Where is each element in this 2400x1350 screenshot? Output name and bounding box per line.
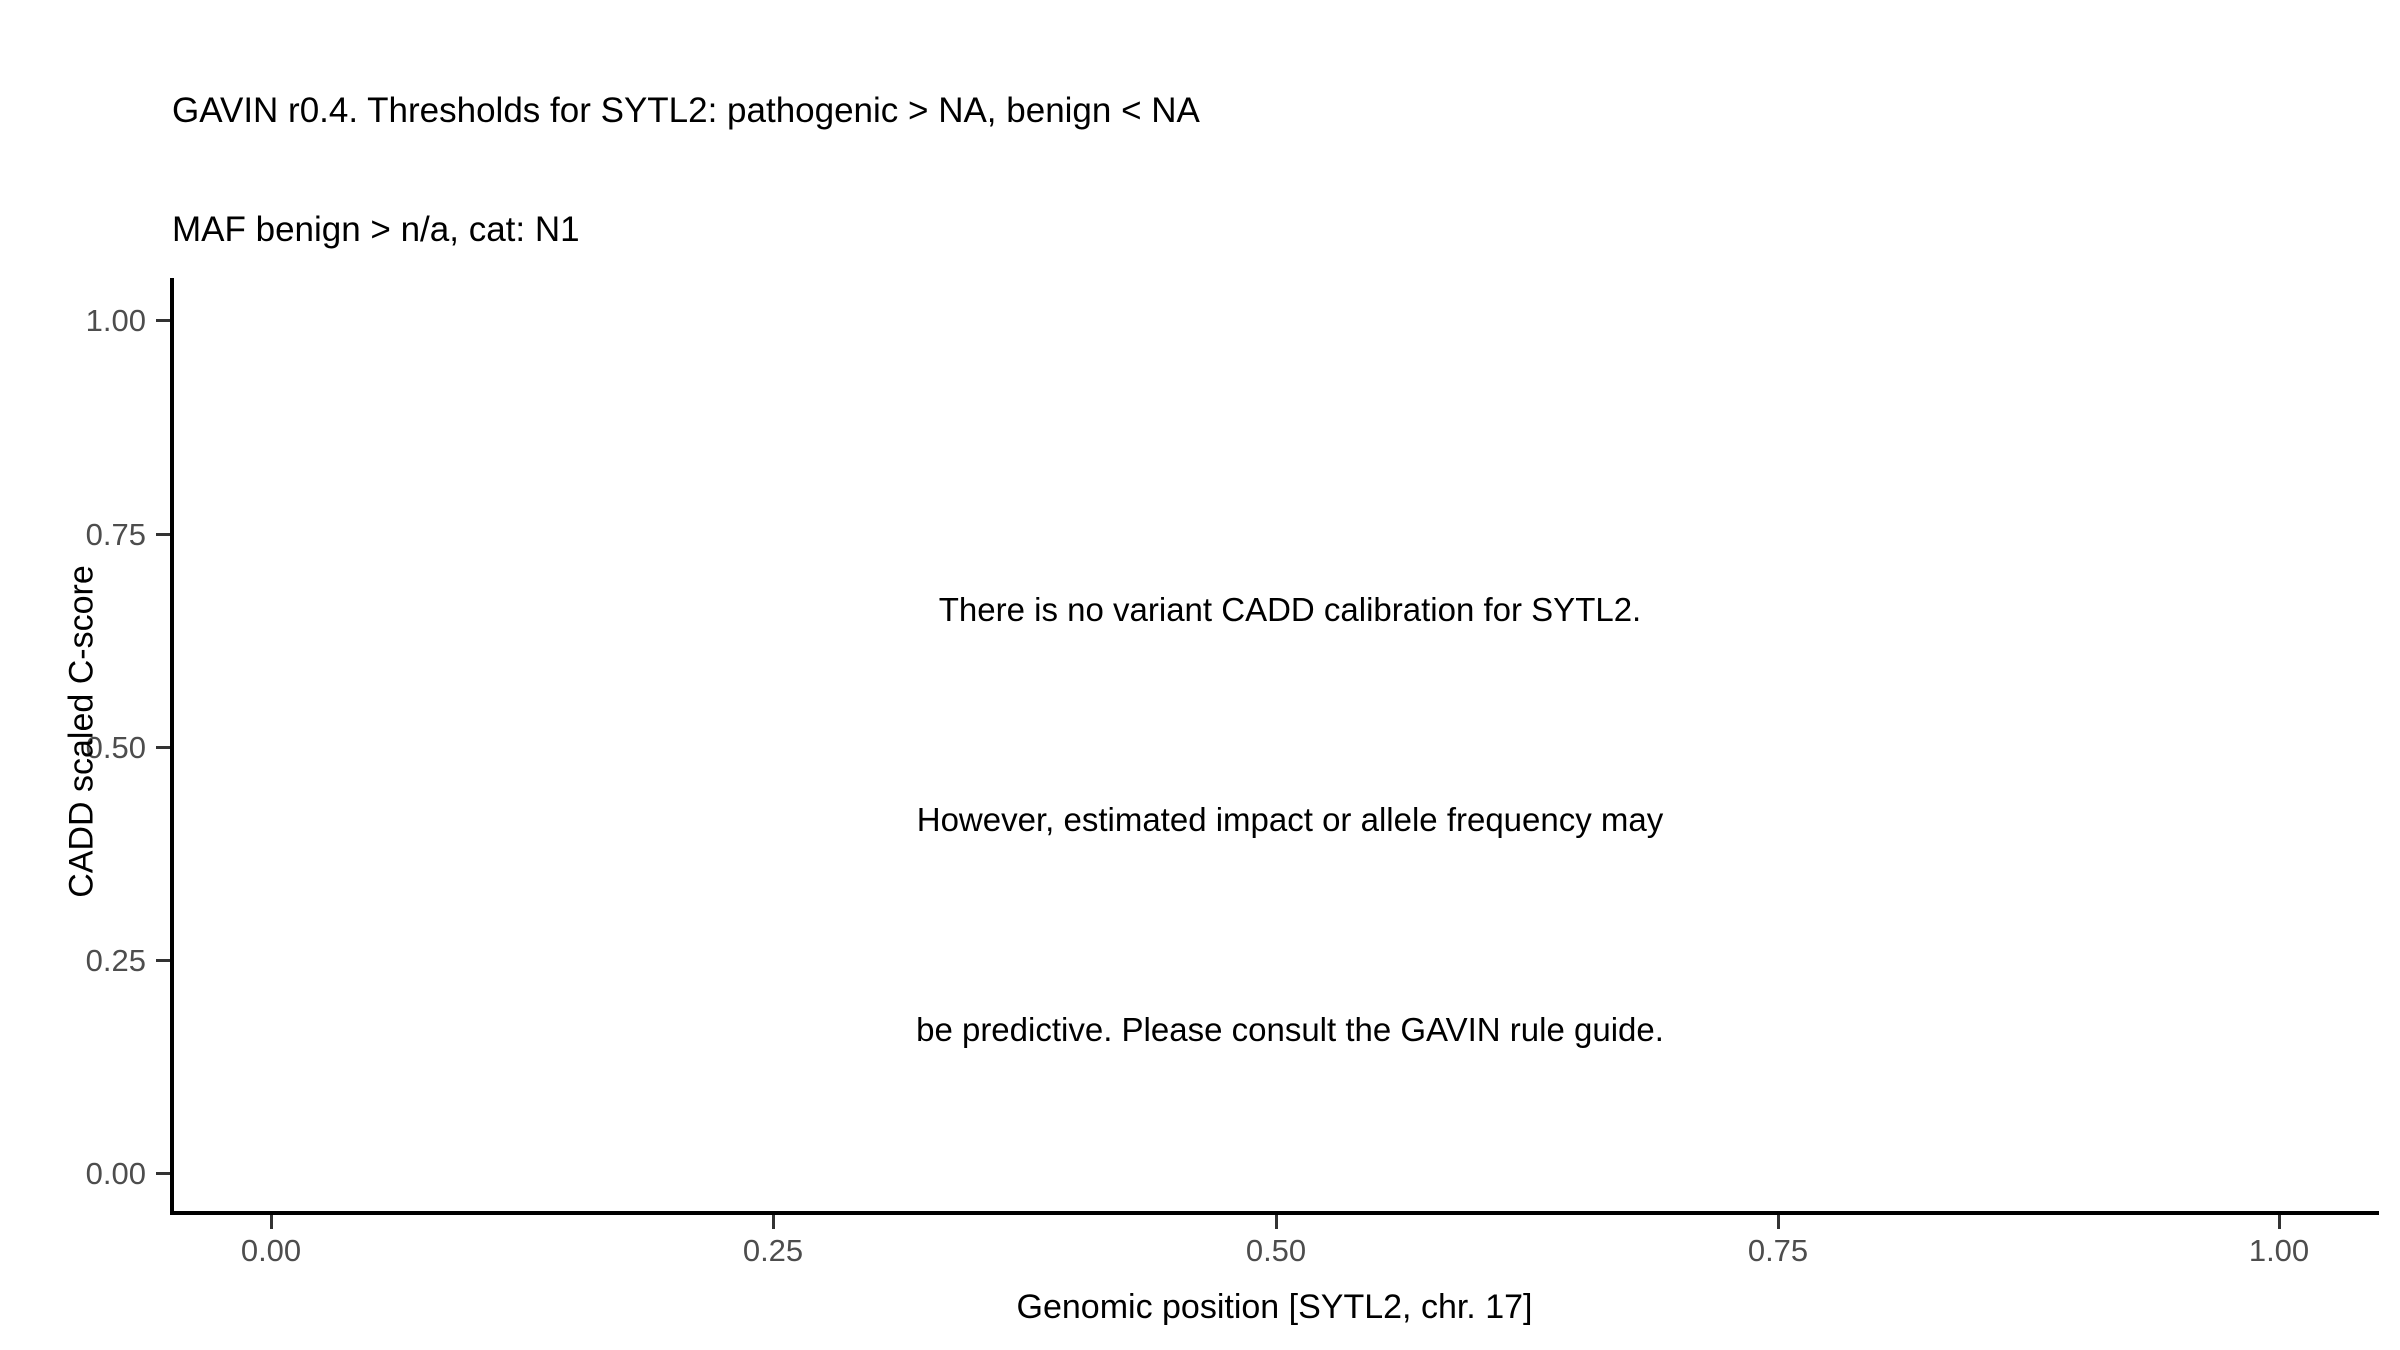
y-tick-mark-0.75 <box>156 533 170 536</box>
x-tick-label-0.75: 0.75 <box>1678 1233 1878 1269</box>
chart-title-line-2: MAF benign > n/a, cat: N1 <box>172 210 2272 250</box>
y-tick-mark-0.00 <box>156 1172 170 1175</box>
y-axis-line <box>170 278 174 1215</box>
x-tick-mark-0.75 <box>1777 1215 1780 1229</box>
y-axis-title: CADD scaled C-score <box>63 332 102 1132</box>
annotation-line-3: be predictive. Please consult the GAVIN … <box>640 995 1940 1065</box>
x-tick-mark-0.25 <box>772 1215 775 1229</box>
x-tick-label-0.50: 0.50 <box>1176 1233 1376 1269</box>
x-tick-mark-1.00 <box>2278 1215 2281 1229</box>
x-axis-title: Genomic position [SYTL2, chr. 17] <box>170 1288 2379 1327</box>
x-tick-label-0.25: 0.25 <box>673 1233 873 1269</box>
y-tick-label-0.00: 0.00 <box>0 1156 146 1192</box>
x-tick-label-0.00: 0.00 <box>171 1233 371 1269</box>
y-tick-mark-1.00 <box>156 319 170 322</box>
x-tick-label-1.00: 1.00 <box>2179 1233 2379 1269</box>
y-tick-mark-0.50 <box>156 746 170 749</box>
x-tick-mark-0.00 <box>270 1215 273 1229</box>
no-calibration-annotation: There is no variant CADD calibration for… <box>640 435 1940 1135</box>
y-tick-mark-0.25 <box>156 959 170 962</box>
annotation-line-2: However, estimated impact or allele freq… <box>640 785 1940 855</box>
chart-title-line-1: GAVIN r0.4. Thresholds for SYTL2: pathog… <box>172 91 2272 131</box>
annotation-line-1: There is no variant CADD calibration for… <box>640 575 1940 645</box>
x-tick-mark-0.50 <box>1275 1215 1278 1229</box>
